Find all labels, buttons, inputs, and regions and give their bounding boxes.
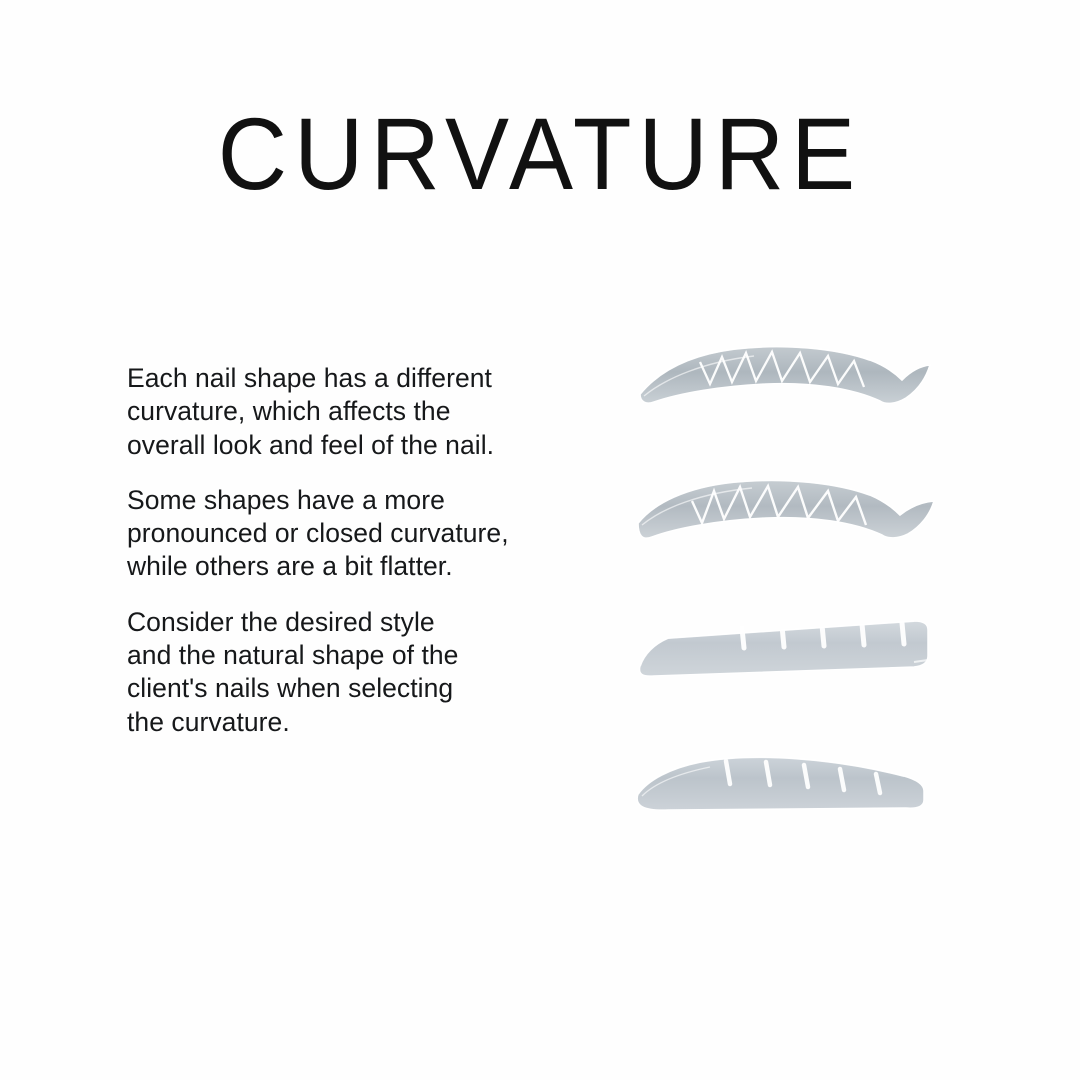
nail-form-2 (614, 459, 964, 569)
nail-form-4 (614, 736, 964, 846)
slide-canvas: CURVATURE Each nail shape has a differen… (0, 0, 1080, 1080)
body-paragraph-2: Some shapes have a more pronounced or cl… (127, 484, 597, 584)
body-text-column: Each nail shape has a different curvatur… (127, 362, 597, 739)
nail-form-1 (614, 322, 964, 432)
page-title: CURVATURE (0, 104, 1080, 206)
curved-nail-form-icon (614, 459, 964, 569)
nail-form-3 (614, 596, 964, 706)
flat-nail-form-icon (614, 596, 964, 706)
tapered-nail-form-icon (614, 736, 964, 846)
body-paragraph-3: Consider the desired style and the natur… (127, 606, 597, 739)
nail-forms-column (614, 322, 964, 842)
body-paragraph-1: Each nail shape has a different curvatur… (127, 362, 597, 462)
curved-nail-form-icon (614, 322, 964, 432)
